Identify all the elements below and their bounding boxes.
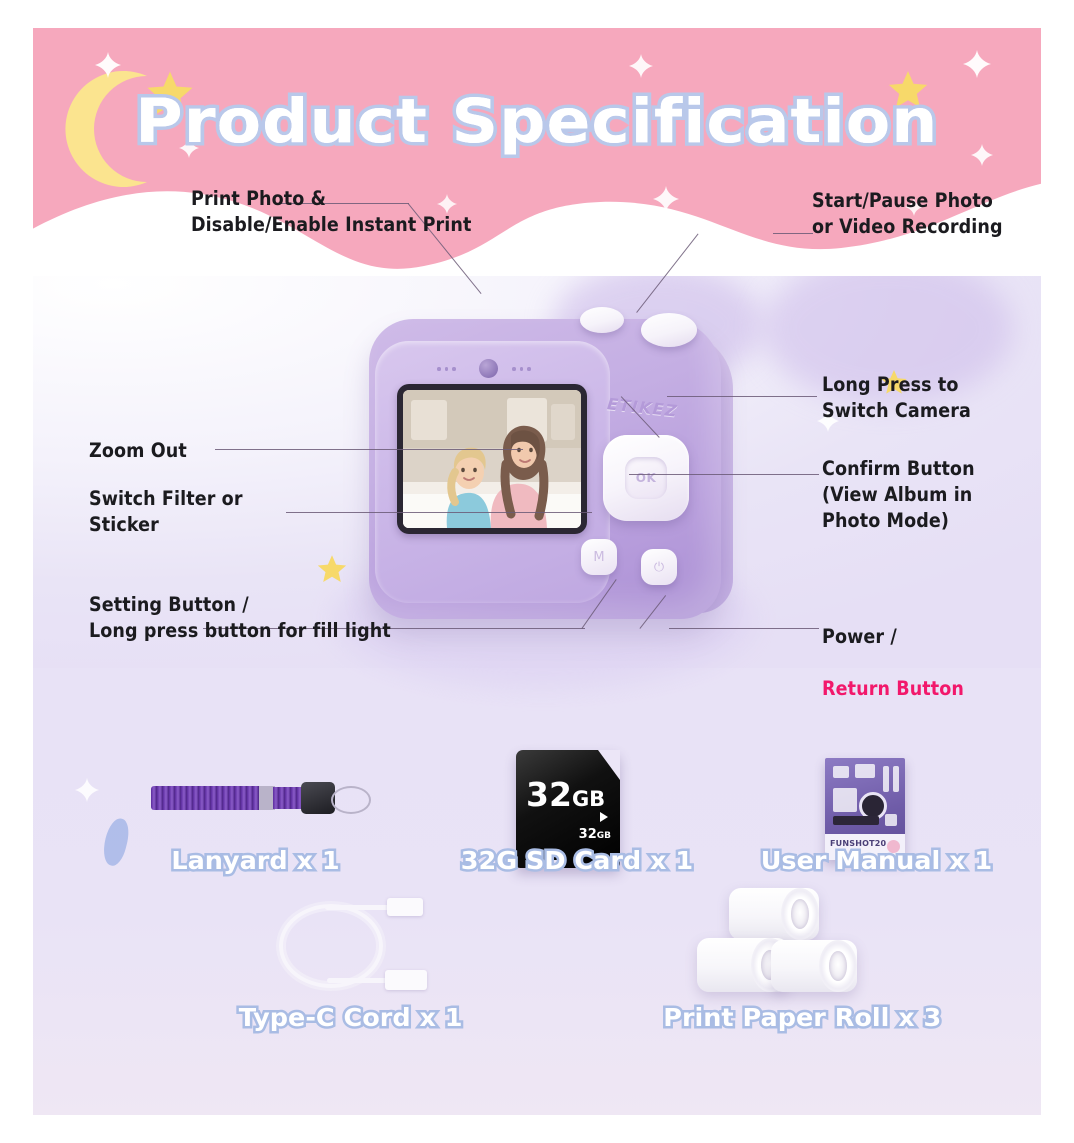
user-manual-image: FUNSHOT20 xyxy=(825,758,905,860)
return-button-label: Return Button xyxy=(822,677,964,700)
speaker-dots-left xyxy=(437,367,456,371)
dpad-control[interactable]: OK xyxy=(603,435,689,521)
paper-roll-top xyxy=(729,888,819,940)
sparkle-icon-acc-left xyxy=(75,778,99,802)
manual-art-5 xyxy=(885,814,897,826)
leader-line-zoom-out xyxy=(215,449,523,450)
callout-power-return: Power / Return Button xyxy=(822,598,964,702)
accessory-label-paper-roll: Print Paper Roll x 3 xyxy=(663,1003,941,1032)
accessory-label-type-c-cord: Type-C Cord x 1 xyxy=(239,1003,463,1032)
lower-background xyxy=(33,668,1041,1115)
star-icon-body-left xyxy=(315,553,349,587)
callout-switch-camera: Long Press to Switch Camera xyxy=(822,372,971,424)
callout-print-photo: Print Photo & Disable/Enable Instant Pri… xyxy=(191,186,471,238)
page-title-wrap: Product Specification xyxy=(33,86,1041,157)
mode-button[interactable]: M xyxy=(581,539,617,575)
accessory-label-lanyard: Lanyard x 1 xyxy=(171,846,339,875)
cable-coil xyxy=(279,904,383,988)
accessory-label-sd-card: 32G SD Card x 1 xyxy=(461,846,693,875)
speaker-dots-right xyxy=(512,367,531,371)
page-title: Product Specification xyxy=(135,86,938,157)
lanyard-strap xyxy=(151,786,263,810)
accessory-label-user-manual: User Manual x 1 xyxy=(761,846,992,875)
leader-line-confirm xyxy=(629,474,819,475)
infographic-canvas: Product Specification xyxy=(33,28,1041,1115)
lanyard-clip xyxy=(301,782,335,814)
manual-art-2 xyxy=(855,764,875,778)
manual-art-4 xyxy=(893,766,899,792)
sparkle-icon-1 xyxy=(95,52,121,78)
ok-button[interactable]: OK xyxy=(625,457,667,499)
type-c-plug xyxy=(387,898,423,916)
callout-zoom-out: Zoom Out xyxy=(89,438,187,464)
manual-art-photo xyxy=(833,788,857,812)
sparkle-icon-4 xyxy=(963,50,991,78)
preview-photo-svg xyxy=(403,390,581,528)
sd-capacity-small: 32GB xyxy=(579,827,611,842)
manual-art-3 xyxy=(883,766,889,792)
lanyard-image xyxy=(151,774,371,826)
paper-roll-right xyxy=(771,940,857,992)
shutter-button[interactable] xyxy=(641,313,697,347)
leader-line-power xyxy=(669,628,819,629)
power-label: Power / xyxy=(822,625,897,648)
callout-setting-button: Setting Button / Long press button for f… xyxy=(89,592,391,644)
usb-a-plug xyxy=(385,970,427,990)
product-specification-infographic: Product Specification xyxy=(0,0,1074,1143)
camera-lens-icon xyxy=(479,359,498,378)
power-button[interactable]: ⏻ xyxy=(641,549,677,585)
screen-preview-photo xyxy=(403,390,581,528)
sd-arrow-icon xyxy=(600,812,608,822)
paper-roll-image xyxy=(693,888,873,998)
leader-line-switch-filter xyxy=(286,512,592,513)
camera-illustration: ETIKEZ OK M ⏻ xyxy=(349,271,749,633)
manual-art-bar xyxy=(833,816,879,825)
callout-switch-filter: Switch Filter or Sticker xyxy=(89,486,243,538)
sparkle-icon-3 xyxy=(629,54,653,78)
sd-capacity: 32GB xyxy=(526,778,605,811)
lanyard-wire-loop xyxy=(331,786,371,814)
type-c-cord-image xyxy=(261,890,441,995)
manual-art-1 xyxy=(833,766,849,778)
leader-line-start-pause xyxy=(773,233,813,234)
paper-roll-right-hole xyxy=(829,951,847,981)
print-photo-button[interactable] xyxy=(580,307,624,333)
leader-line-switch-camera xyxy=(667,396,817,397)
callout-start-pause: Start/Pause Photo or Video Recording xyxy=(812,188,1003,240)
paper-roll-top-hole xyxy=(791,899,809,929)
callout-confirm-button: Confirm Button (View Album in Photo Mode… xyxy=(822,456,975,534)
